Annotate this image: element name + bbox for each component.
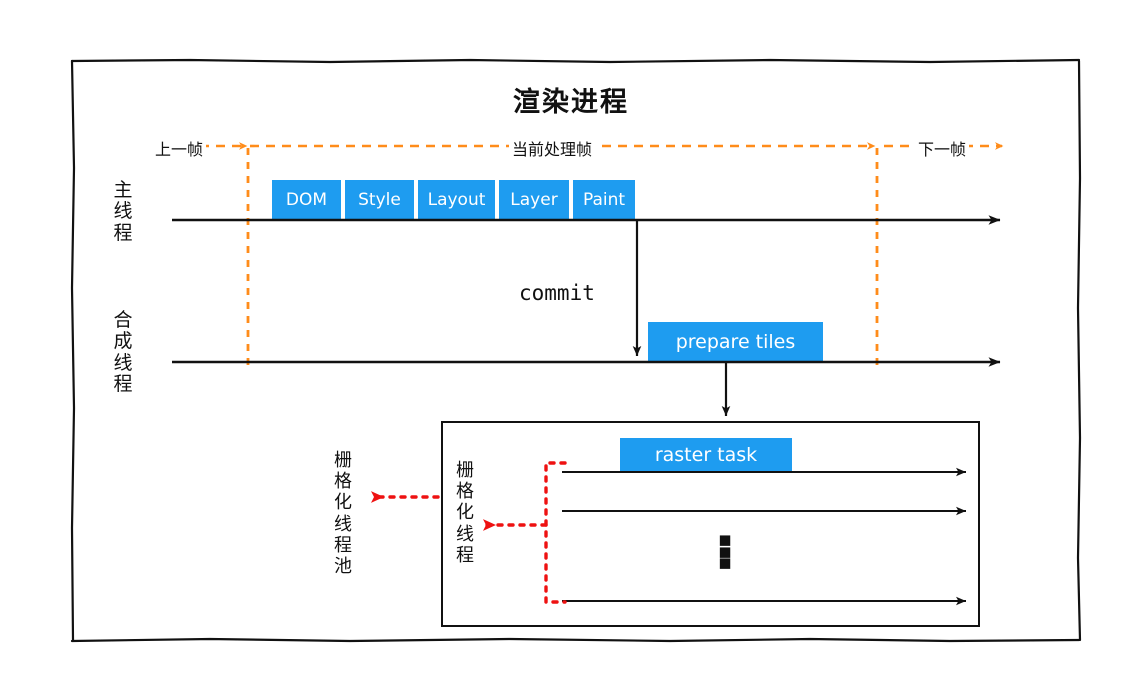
pipeline-stage-paint[interactable]: Paint: [571, 180, 635, 219]
diagram-canvas: 渲染进程 主 线 程 合 成 线 程: [0, 0, 1142, 677]
raster-task-box[interactable]: raster task: [620, 438, 792, 472]
rasterization-thread-label-char: 格: [452, 481, 478, 502]
pipeline-stage-label: Paint: [583, 190, 625, 210]
worker-rows-ellipsis: ▪ ▪ ▪: [716, 534, 734, 569]
pipeline-stage-label: Layout: [428, 190, 486, 210]
pipeline-stage-layout[interactable]: Layout: [416, 180, 497, 219]
rasterization-thread-label-char: 线: [452, 524, 478, 545]
commit-label: commit: [519, 281, 595, 305]
thread-pool-outer-label: 栅 格 化 线 程 池: [330, 450, 356, 577]
page-title: 渲染进程: [0, 80, 1142, 119]
prepare-tiles-label: prepare tiles: [676, 331, 796, 353]
rasterization-thread-label-char: 栅: [452, 460, 478, 481]
band-label-next-frame: 下一帧: [915, 136, 969, 160]
rasterization-thread-label-char: 程: [452, 545, 478, 566]
pipeline-stage-label: Layer: [510, 190, 557, 210]
lane-label-compositor-thread-char: 合: [110, 310, 136, 331]
pipeline-stage-layer[interactable]: Layer: [497, 180, 571, 219]
thread-pool-outer-label-char: 栅: [330, 450, 356, 471]
thread-pool-outer-label-char: 格: [330, 471, 356, 492]
pipeline-stage-label: DOM: [286, 190, 327, 210]
rasterization-thread-label-char: 化: [452, 502, 478, 523]
pipeline-stage-style[interactable]: Style: [343, 180, 416, 219]
pipeline-stage-label: Style: [358, 190, 401, 210]
lane-label-main-thread-char: 主: [110, 180, 136, 201]
prepare-tiles-box[interactable]: prepare tiles: [648, 322, 823, 362]
lane-label-main-thread-char: 线: [110, 201, 136, 222]
thread-pool-outer-label-char: 化: [330, 492, 356, 513]
lane-label-compositor-thread: 合 成 线 程: [110, 310, 136, 395]
rasterization-thread-label: 栅 格 化 线 程: [452, 460, 478, 566]
lane-label-compositor-thread-char: 程: [110, 374, 136, 395]
thread-pool-outer-label-char: 线: [330, 514, 356, 535]
thread-pool-outer-label-char: 程: [330, 535, 356, 556]
band-label-previous-frame: 上一帧: [152, 136, 206, 160]
lane-label-compositor-thread-char: 线: [110, 353, 136, 374]
lane-label-compositor-thread-char: 成: [110, 331, 136, 352]
thread-pool-outer-label-char: 池: [330, 556, 356, 577]
lane-label-main-thread: 主 线 程: [110, 180, 136, 244]
lane-label-main-thread-char: 程: [110, 223, 136, 244]
band-label-current-frame: 当前处理帧: [509, 136, 595, 160]
ellipsis-dot: ▪: [716, 557, 734, 569]
pipeline-stage-dom[interactable]: DOM: [272, 180, 343, 219]
raster-task-label: raster task: [655, 444, 757, 466]
